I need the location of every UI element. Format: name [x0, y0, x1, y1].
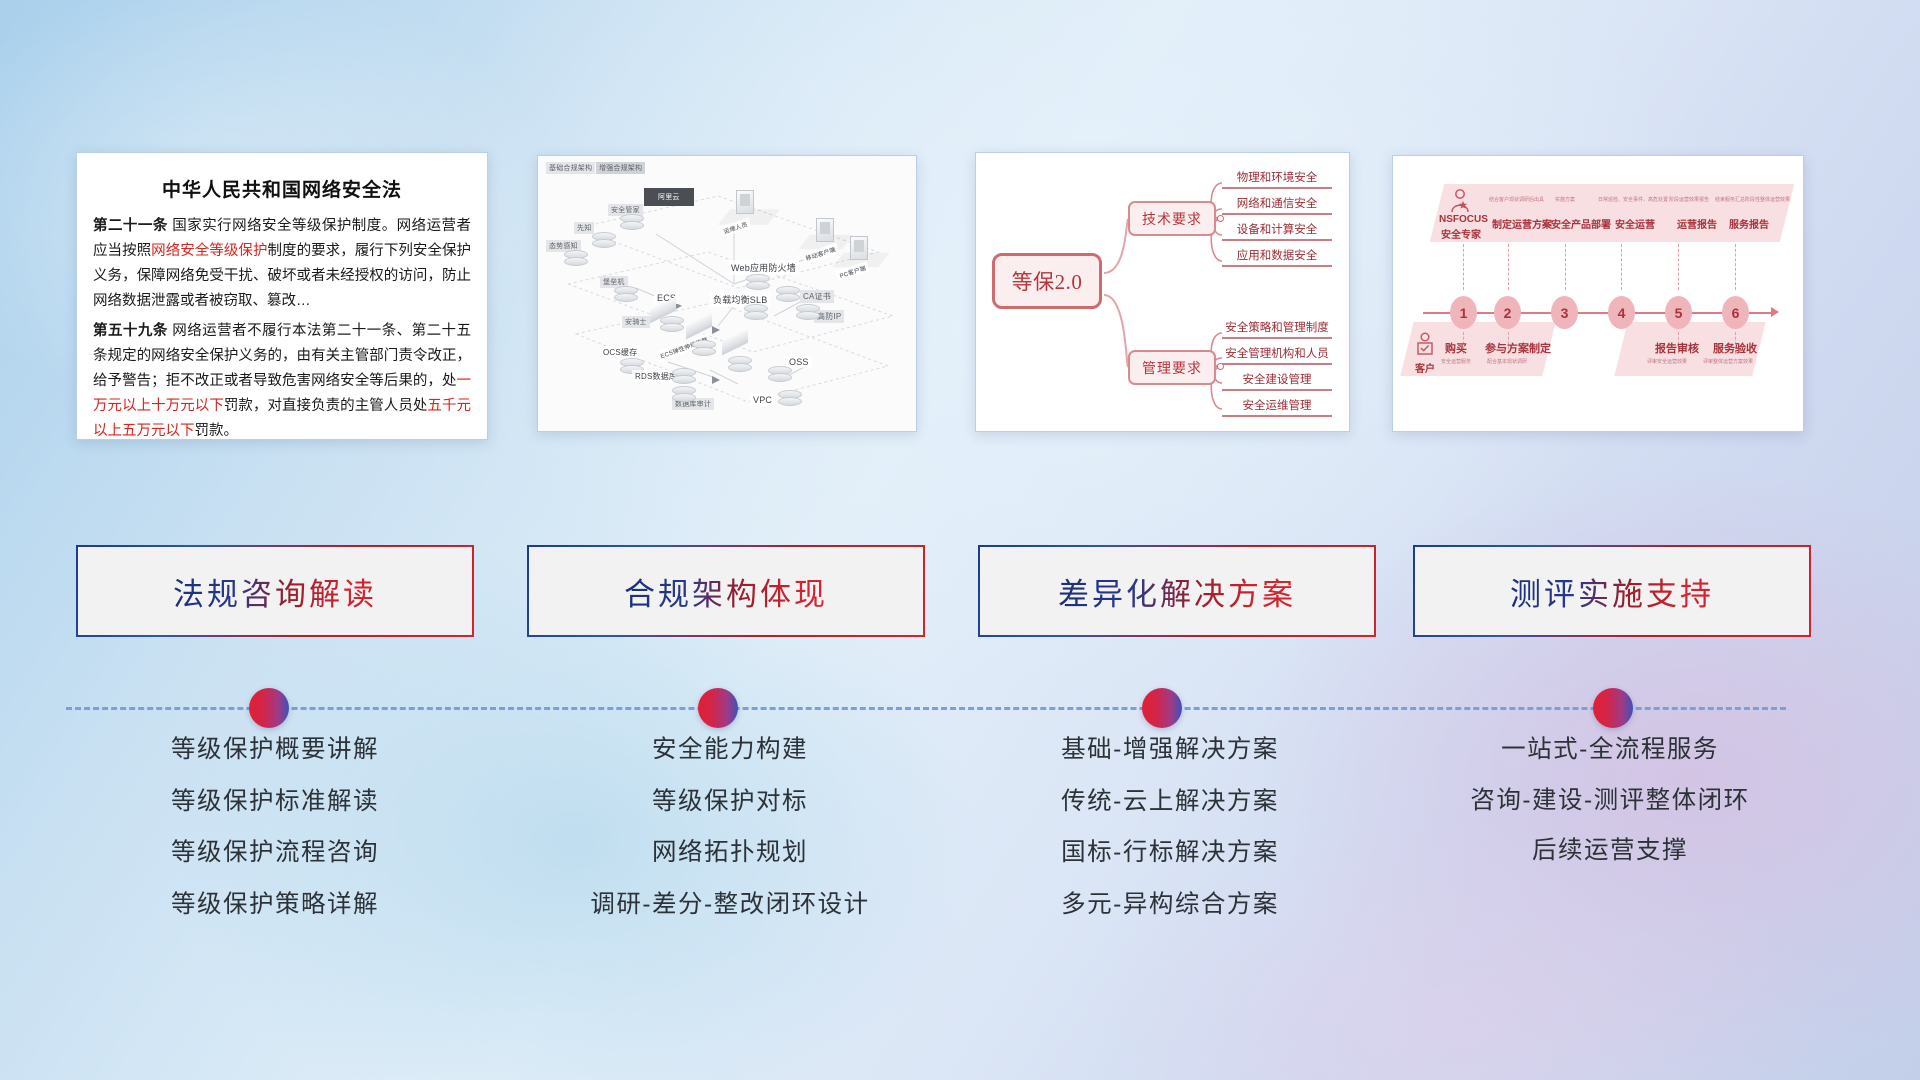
timeline-node-3[interactable] [1142, 688, 1182, 728]
arch-node-situation-awareness [564, 250, 588, 268]
step-2-sub: 结合客户现状调研后出具 [1489, 196, 1544, 203]
connector-dash-3 [1565, 244, 1566, 290]
arch-cloud-badge: 阿里云 [644, 188, 694, 206]
step-6-label: 服务报告 [1729, 216, 1769, 231]
list-item: 等级保护概要讲解 [60, 738, 490, 763]
customer-step-4-label: 服务验收 [1713, 340, 1757, 356]
arch-node-slb [744, 304, 768, 322]
nsfocus-process-card: NSFOCUS 安全专家 结合客户现状调研后出具 制定运营方案 实施方案 安全产… [1392, 155, 1804, 432]
list-item: 国标-行标解决方案 [955, 841, 1385, 866]
list-item: 网络拓扑规划 [515, 841, 945, 866]
law-article-21: 第二十一条 国家实行网络安全等级保护制度。网络运营者应当按照网络安全等级保护制度… [93, 214, 471, 314]
timeline-node-1[interactable] [249, 688, 289, 728]
arch-node-bastion [614, 286, 638, 304]
arch-node-security-butler [620, 214, 644, 232]
list-item: 一站式-全流程服务 [1395, 738, 1825, 763]
article-text-cont: 罚款，对直接负责的主管人员处 [224, 398, 428, 414]
mindmap-leaf: 安全管理机构和人员 [1222, 339, 1332, 365]
arch-node-ops-staff [736, 190, 754, 214]
step-number-6: 6 [1722, 296, 1749, 329]
list-item: 基础-增强解决方案 [955, 738, 1385, 763]
customer-step-2-sub: 配合基本现状调研 [1487, 358, 1527, 365]
list-item: 等级保护标准解读 [60, 790, 490, 815]
step-number-2: 2 [1494, 296, 1521, 329]
connector-dash-1 [1463, 244, 1464, 290]
customer-step-4-sub: 评审整体运营方案效果 [1703, 358, 1753, 365]
list-item: 安全能力构建 [515, 738, 945, 763]
reference-cards-row: 中华人民共和国网络安全法 第二十一条 国家实行网络安全等级保护制度。网络运营者应… [0, 0, 1920, 470]
nsfocus-timeline: NSFOCUS 安全专家 结合客户现状调研后出具 制定运营方案 实施方案 安全产… [1393, 156, 1803, 431]
title-label: 合规架构体现 [624, 569, 828, 614]
arch-node-xianzhi [592, 232, 616, 250]
connector-dash-4 [1621, 244, 1622, 290]
mindmap-root: 等保2.0 [992, 253, 1102, 309]
arch-node-waf [746, 274, 770, 292]
expert-role-label-line2: 安全专家 [1439, 226, 1483, 241]
step-number-3: 3 [1551, 296, 1578, 329]
section-titles-row: 法规咨询解读 合规架构体现 差异化解决方案 测评实施支持 [0, 545, 1920, 637]
mindmap-leaf: 安全运维管理 [1222, 391, 1332, 417]
arch-node-vpc [778, 390, 802, 408]
title-label: 法规咨询解读 [173, 569, 377, 614]
arch-node-anti-ddos [796, 304, 820, 322]
timeline-dashed-line [66, 707, 1786, 710]
title-label: 测评实施支持 [1510, 569, 1714, 614]
step-number-1: 1 [1450, 296, 1477, 329]
arch-node-ecs-cluster-a [692, 340, 716, 358]
timeline-node-2[interactable] [698, 688, 738, 728]
mindmap-leaf: 物理和环境安全 [1222, 163, 1332, 189]
list-item: 等级保护策略详解 [60, 893, 490, 918]
expert-person-icon [1449, 188, 1471, 214]
list-item: 传统-云上解决方案 [955, 790, 1385, 815]
step-5-label: 运营报告 [1677, 216, 1717, 231]
mindmap-branch-technical: 技术要求 [1128, 201, 1216, 236]
step-4-sub: 日常巡检、安全事件、高危处置 [1598, 196, 1668, 203]
customer-step-1-sub: 安全运营服务 [1441, 358, 1471, 365]
arch-node-oss [768, 366, 792, 384]
article-text-end: 罚款。 [195, 423, 239, 439]
connector-dash-2 [1508, 244, 1509, 290]
step-number-4: 4 [1608, 296, 1635, 329]
arch-node-label-anqishi: 安骑士 [622, 316, 650, 328]
mindmap-branch-management: 管理要求 [1128, 350, 1216, 385]
mindmap-leaf: 安全建设管理 [1222, 365, 1332, 391]
list-item: 调研-差分-整改闭环设计 [515, 893, 945, 918]
expert-band [1430, 184, 1794, 242]
arch-node-mobile-client [816, 218, 834, 242]
title-box-assessment-support[interactable]: 测评实施支持 [1413, 545, 1811, 637]
list-item: 后续运营支撑 [1395, 839, 1825, 864]
arch-node-ecs-3 [722, 334, 748, 356]
mindmap-leaf: 网络和通信安全 [1222, 189, 1332, 215]
dengbao-mindmap: 等保2.0 技术要求 物理和环境安全 网络和通信安全 设备和计算安全 应用和数据… [976, 153, 1349, 431]
detail-column-assessment-support: 一站式-全流程服务 咨询-建设-测评整体闭环 后续运营支撑 [1395, 738, 1825, 890]
arch-node-rds [672, 368, 696, 386]
step-4-label: 安全运营 [1615, 216, 1655, 231]
article-number: 第二十一条 [93, 218, 168, 234]
cloud-architecture-card: 基础合规架构 增强合规架构 阿里云 安全管家 先知 态势感知 堡垒机 安骑士 E… [537, 155, 917, 432]
detail-column-differentiated-solution: 基础-增强解决方案 传统-云上解决方案 国标-行标解决方案 多元-异构综合方案 [955, 738, 1385, 944]
customer-person-icon [1415, 332, 1435, 358]
article-number: 第五十九条 [93, 323, 168, 339]
detail-column-compliance-architecture: 安全能力构建 等级保护对标 网络拓扑规划 调研-差分-整改闭环设计 [515, 738, 945, 944]
title-box-differentiated-solution[interactable]: 差异化解决方案 [978, 545, 1376, 637]
law-card-title: 中华人民共和国网络安全法 [93, 175, 471, 202]
step-6-sub: 结束服务汇总阶段性整体运营效果 [1715, 196, 1790, 203]
list-item: 等级保护对标 [515, 790, 945, 815]
step-3-sub: 实施方案 [1555, 196, 1575, 203]
customer-step-2-label: 参与方案制定 [1485, 340, 1551, 356]
step-number-5: 5 [1665, 296, 1692, 329]
customer-step-1-label: 购买 [1445, 340, 1467, 356]
customer-step-3-label: 报告审核 [1655, 340, 1699, 356]
list-item: 咨询-建设-测评整体闭环 [1395, 789, 1825, 814]
title-box-compliance-architecture[interactable]: 合规架构体现 [527, 545, 925, 637]
step-3-label: 安全产品部署 [1551, 216, 1611, 231]
step-5-sub: 阶段运营效果报告 [1669, 196, 1709, 203]
timeline-connector [0, 688, 1920, 728]
article-highlight: 网络安全等级保护 [151, 243, 267, 259]
arch-tab-enhanced[interactable]: 增强合规架构 [596, 162, 645, 174]
arch-node-db-audit [672, 386, 696, 404]
connector-dash-5 [1678, 244, 1679, 290]
arch-node-ca [776, 286, 800, 304]
customer-step-3-sub: 评审安全运营效果 [1647, 358, 1687, 365]
arch-node-label-waf: Web应用防火墙 [728, 260, 799, 275]
step-2-label: 制定运营方案 [1492, 216, 1552, 231]
detail-column-regulation-consulting: 等级保护概要讲解 等级保护标准解读 等级保护流程咨询 等级保护策略详解 [60, 738, 490, 944]
list-item: 多元-异构综合方案 [955, 893, 1385, 918]
list-item: 等级保护流程咨询 [60, 841, 490, 866]
arch-tab-basic[interactable]: 基础合规架构 [546, 162, 595, 174]
timeline-node-4[interactable] [1593, 688, 1633, 728]
arch-node-label-ca: CA证书 [800, 290, 834, 303]
cybersecurity-law-card: 中华人民共和国网络安全法 第二十一条 国家实行网络安全等级保护制度。网络运营者应… [76, 152, 488, 440]
mindmap-leaf: 设备和计算安全 [1222, 215, 1332, 241]
architecture-diagram: 基础合规架构 增强合规架构 阿里云 安全管家 先知 态势感知 堡垒机 安骑士 E… [538, 156, 916, 431]
mindmap-card: 等保2.0 技术要求 物理和环境安全 网络和通信安全 设备和计算安全 应用和数据… [975, 152, 1350, 432]
customer-role-label: 客户 [1415, 360, 1435, 375]
arch-node-ecs-cluster-b [728, 356, 752, 374]
mindmap-leaf: 应用和数据安全 [1222, 241, 1332, 267]
arch-node-label-vpc: VPC [750, 394, 775, 406]
timeline-arrow-icon [1771, 307, 1779, 317]
title-box-regulation-consulting[interactable]: 法规咨询解读 [76, 545, 474, 637]
arch-node-ecs [650, 302, 676, 324]
title-label: 差异化解决方案 [1058, 569, 1296, 614]
detail-columns-row: 等级保护概要讲解 等级保护标准解读 等级保护流程咨询 等级保护策略详解 安全能力… [0, 738, 1920, 978]
expert-role-label-line1: NSFOCUS [1439, 214, 1483, 225]
mindmap-leaf: 安全策略和管理制度 [1222, 313, 1332, 339]
law-article-59: 第五十九条 网络运营者不履行本法第二十一条、第二十五条规定的网络安全保护义务的，… [93, 319, 471, 440]
arch-node-pc-client [850, 236, 868, 260]
connector-dash-6 [1735, 244, 1736, 290]
